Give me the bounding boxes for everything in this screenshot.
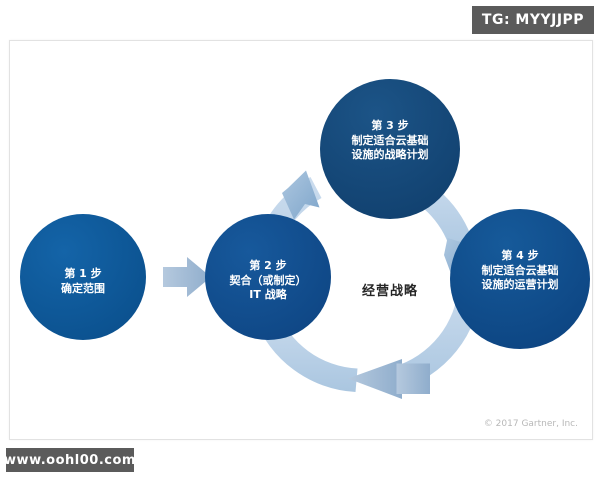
telegram-watermark-text: TG: MYYJJPP [482, 12, 584, 28]
slide-canvas: 第 1 步 确定范围 第 2 步 契合（或制定） IT 战略 第 3 步 制定适… [9, 40, 593, 440]
ring-arrowhead-bottom [348, 359, 402, 399]
website-watermark-badge: www.oohl00.com [6, 448, 134, 472]
step4-circle[interactable] [450, 209, 590, 349]
step2-circle[interactable] [205, 214, 331, 340]
telegram-watermark-badge: TG: MYYJJPP [472, 6, 594, 34]
copyright-notice: © 2017 Gartner, Inc. [484, 419, 578, 429]
ring-arrowhead-bottom-tail [397, 364, 431, 395]
website-watermark-text: www.oohl00.com [4, 453, 136, 468]
linear-arrow-step1-to-step2 [163, 257, 211, 297]
step1-circle[interactable] [20, 214, 146, 340]
cycle-diagram [10, 41, 592, 439]
cycle-center-label: 经营战略 [325, 280, 455, 299]
step3-circle[interactable] [320, 79, 460, 219]
